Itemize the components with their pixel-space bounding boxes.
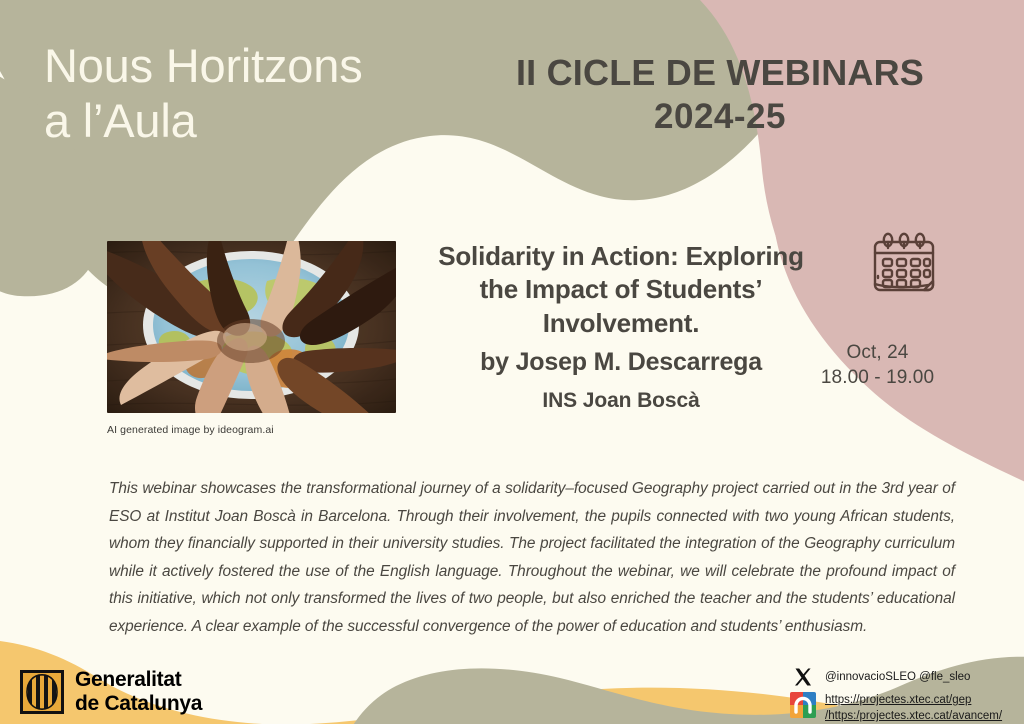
link-avancem[interactable]: /https:/projectes.xtec.cat/avancem/ xyxy=(825,708,1002,724)
talk-title-line1: Solidarity in Action: Exploring xyxy=(396,240,846,273)
generalitat-logo-block: Generalitat de Catalunya xyxy=(20,668,202,715)
talk-title-line2: the Impact of Students’ xyxy=(396,273,846,306)
talk-details: Solidarity in Action: Exploring the Impa… xyxy=(396,240,846,415)
talk-title-line3: Involvement. xyxy=(396,307,846,340)
cycle-heading-text: II CICLE DE WEBINARS xyxy=(516,52,924,93)
schedule-date: Oct, 24 xyxy=(847,342,909,363)
photo-credit-caption: AI generated image by ideogram.ai xyxy=(107,424,407,436)
schedule-block: Oct, 24 18.00 - 19.00 xyxy=(790,340,965,391)
calendar-icon xyxy=(866,230,942,302)
talk-speaker: by Josep M. Descarrega xyxy=(396,346,846,379)
cycle-heading: II CICLE DE WEBINARS 2024-25 xyxy=(470,50,970,139)
talk-title: Solidarity in Action: Exploring the Impa… xyxy=(396,240,846,340)
poster-brand-title: Nous Horitzons a l’Aula xyxy=(44,38,464,149)
webinar-photo-container xyxy=(107,241,396,413)
project-links-row: https://projectes.xtec.cat/gep /https:/p… xyxy=(790,692,1024,724)
brand-title-line1: Nous Horitzons xyxy=(44,39,363,92)
webinar-description: This webinar showcases the transformatio… xyxy=(109,475,955,640)
social-handles: @innovacioSLEO @fle_sleo xyxy=(825,664,970,690)
x-twitter-icon[interactable] xyxy=(790,664,816,690)
link-gep[interactable]: https://projectes.xtec.cat/gep xyxy=(825,692,1002,708)
cycle-heading-years: 2024-25 xyxy=(470,95,970,139)
generalitat-logo-text: Generalitat de Catalunya xyxy=(75,668,202,715)
generalitat-line2: de Catalunya xyxy=(75,692,202,716)
generalitat-line1: Generalitat xyxy=(75,668,202,692)
project-links: https://projectes.xtec.cat/gep /https:/p… xyxy=(825,692,1002,724)
webinar-photo xyxy=(107,241,396,413)
brand-title-line2: a l’Aula xyxy=(44,93,464,148)
webinar-poster: Nous Horitzons a l’Aula II CICLE DE WEBI… xyxy=(0,0,1024,724)
schedule-time: 18.00 - 19.00 xyxy=(790,365,965,390)
generalitat-de-catalunya-logo-icon xyxy=(20,670,64,714)
talk-school: INS Joan Boscà xyxy=(396,387,846,414)
xtec-logo-icon[interactable] xyxy=(790,692,816,718)
social-links-block: @innovacioSLEO @fle_sleo https://project… xyxy=(790,664,1024,724)
social-handles-row: @innovacioSLEO @fle_sleo xyxy=(790,664,1024,690)
